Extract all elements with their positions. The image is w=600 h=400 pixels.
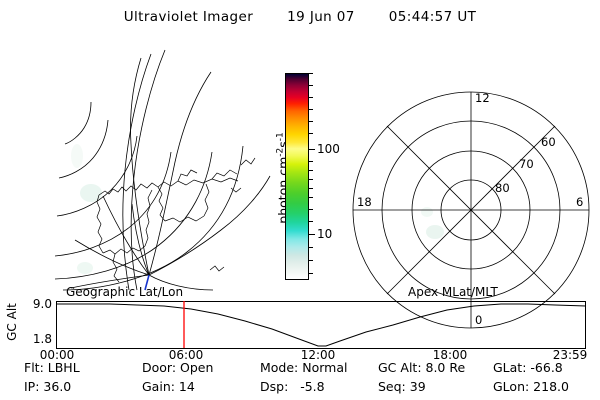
geo-limb-arcs	[123, 50, 165, 290]
gc-altitude-timeseries-panel[interactable]: Geographic Lat/Lon Apex MLat/MLT GC Alt …	[0, 285, 600, 355]
uvi-viewer-window: Ultraviolet Imager 19 Jun 07 05:44:57 UT	[0, 0, 600, 400]
y-tick-9: 9.0	[33, 297, 52, 311]
colorbar-gradient	[286, 74, 308, 279]
gc-alt-trace	[56, 304, 586, 346]
status-glon: GLon: 218.0	[493, 379, 600, 395]
instrument-title: Ultraviolet Imager	[124, 9, 253, 25]
apex-mlat-label-70: 70	[519, 157, 534, 171]
status-field-grid: Flt: LBHL Door: Open Mode: Normal GC Alt…	[24, 360, 584, 395]
observation-date: 19 Jun 07	[287, 9, 355, 25]
timeseries-y-tick-labels: 9.0 1.8	[20, 301, 52, 349]
apex-emission-patches	[421, 207, 444, 239]
status-gc-alt: GC Alt: 8.0 Re	[378, 360, 493, 376]
status-mode: Mode: Normal	[260, 360, 378, 376]
apex-mlt-label-6: 6	[576, 195, 583, 209]
apex-plot-svg: 12 18 6 0 60 70 80	[335, 40, 590, 290]
colorbar-wrapper: photon cm-2s-1	[285, 73, 309, 280]
status-flt: Flt: LBHL	[24, 360, 142, 376]
colorbar-tick-label-10: 10	[317, 228, 332, 240]
header-bar: Ultraviolet Imager 19 Jun 07 05:44:57 UT	[0, 6, 600, 28]
y-tick-1-8: 1.8	[33, 332, 52, 346]
timeseries-plot-svg	[56, 301, 586, 349]
apex-panel-label: Apex MLat/MLT	[408, 285, 498, 299]
status-dsp: Dsp: -5.8	[260, 379, 378, 395]
geo-coastlines	[97, 158, 255, 282]
apex-mlt-label-12: 12	[475, 91, 490, 105]
status-gain: Gain: 14	[142, 379, 260, 395]
apex-dial-panel[interactable]: 12 18 6 0 60 70 80	[335, 40, 590, 290]
status-door: Door: Open	[142, 360, 260, 376]
geographic-panel-label: Geographic Lat/Lon	[66, 285, 183, 299]
status-bar: Flt: LBHL Door: Open Mode: Normal GC Alt…	[0, 358, 600, 400]
apex-mlt-label-18: 18	[357, 195, 372, 209]
geographic-image-panel[interactable]	[55, 40, 270, 290]
geo-meridian-lines	[71, 58, 270, 290]
status-glat: GLat: -66.8	[493, 360, 600, 376]
status-ip: IP: 36.0	[24, 379, 142, 395]
geographic-plot-svg	[55, 40, 270, 290]
status-seq: Seq: 39	[378, 379, 493, 395]
observation-time: 05:44:57 UT	[389, 9, 476, 25]
timeseries-panel-captions: Geographic Lat/Lon Apex MLat/MLT	[0, 285, 600, 301]
apex-mlat-label-80: 80	[495, 181, 510, 195]
colorbar-panel: photon cm-2s-1	[263, 55, 338, 290]
colorbar-title-exp2: -1	[275, 132, 285, 141]
colorbar-title-exp1: -2	[275, 148, 285, 157]
geo-emission-patches	[71, 144, 102, 274]
colorbar-scale[interactable]	[285, 73, 309, 280]
apex-mlat-label-60: 60	[541, 135, 556, 149]
timeseries-y-axis-title: GC Alt	[5, 303, 19, 341]
